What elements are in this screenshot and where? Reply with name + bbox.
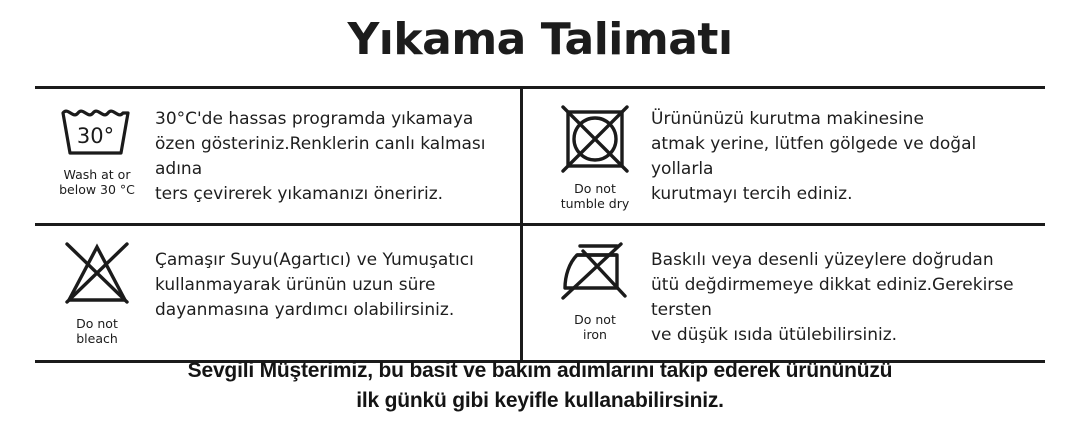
care-instructions-page: Yıkama Talimatı 30° Wash at or below 30 …: [0, 0, 1080, 437]
care-text-wash: 30°C'de hassas programda yıkamaya özen g…: [151, 101, 514, 207]
do-not-tumble-dry-icon: [556, 103, 634, 175]
care-text-tumble-dry: Ürününüzü kurutma makinesine atmak yerin…: [649, 101, 1039, 207]
care-cell-wash: 30° Wash at or below 30 °C 30°C'de hassa…: [35, 89, 523, 223]
do-not-iron-icon: [555, 240, 635, 306]
symbol-caption-tumble-dry: Do not tumble dry: [561, 181, 630, 211]
footer-message: Sevgili Müşterimiz, bu basit ve bakım ad…: [0, 356, 1080, 416]
care-cell-bleach: Do not bleach Çamaşır Suyu(Agartıcı) ve …: [35, 226, 523, 360]
table-row: Do not bleach Çamaşır Suyu(Agartıcı) ve …: [35, 226, 1045, 360]
symbol-caption-iron: Do not iron: [574, 312, 616, 342]
symbol-caption-bleach: Do not bleach: [76, 316, 118, 346]
care-text-bleach: Çamaşır Suyu(Agartıcı) ve Yumuşatıcı kul…: [151, 238, 514, 323]
care-text-iron: Baskılı veya desenli yüzeylere doğrudan …: [649, 238, 1039, 348]
table-row: 30° Wash at or below 30 °C 30°C'de hassa…: [35, 89, 1045, 226]
care-cell-tumble-dry: Do not tumble dry Ürününüzü kurutma maki…: [523, 89, 1045, 223]
wash-temperature-label: 30°: [77, 124, 114, 148]
symbol-block-bleach: Do not bleach: [43, 238, 151, 346]
wash-tub-30-icon: 30°: [55, 103, 139, 161]
page-title: Yıkama Talimatı: [0, 14, 1080, 65]
symbol-block-wash: 30° Wash at or below 30 °C: [43, 101, 151, 197]
symbol-block-tumble-dry: Do not tumble dry: [541, 101, 649, 211]
care-symbol-table: 30° Wash at or below 30 °C 30°C'de hassa…: [35, 86, 1045, 363]
care-cell-iron: Do not iron Baskılı veya desenli yüzeyle…: [523, 226, 1045, 360]
symbol-block-iron: Do not iron: [541, 238, 649, 342]
do-not-bleach-icon: [58, 240, 136, 310]
symbol-caption-wash: Wash at or below 30 °C: [59, 167, 135, 197]
